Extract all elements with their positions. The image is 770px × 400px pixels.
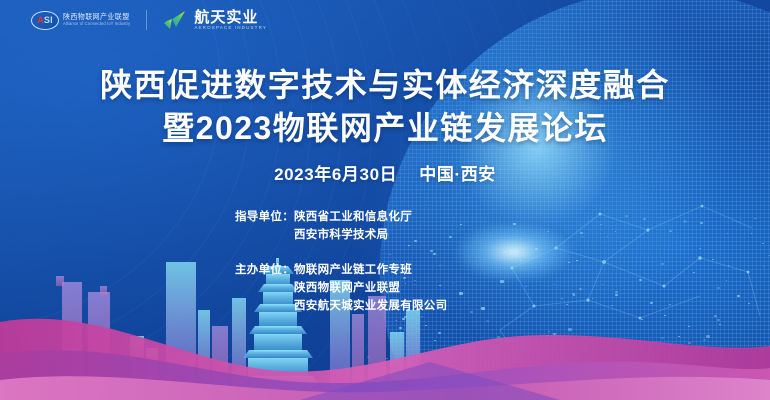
asi-letter-si: SI bbox=[44, 16, 53, 25]
aerospace-swoosh-icon bbox=[163, 10, 187, 30]
organizer-label: 指导单位： bbox=[235, 208, 294, 244]
date-location-bar: 2023年6月30日中国·西安 bbox=[0, 160, 770, 185]
logo-divider bbox=[146, 10, 147, 30]
alliance-name-en: Alliance of Connected IoT Industry bbox=[63, 22, 130, 26]
organizer-unit: 陕西省工业和信息化厅 bbox=[294, 208, 412, 226]
organizers-block: 指导单位：陕西省工业和信息化厅西安市科学技术局主办单位：物联网产业链工作专班陕西… bbox=[0, 208, 770, 332]
alliance-logo: ASI 陕西物联网产业联盟 Alliance of Connected IoT … bbox=[31, 11, 130, 30]
conference-poster: ASI 陕西物联网产业联盟 Alliance of Connected IoT … bbox=[0, 0, 770, 400]
title-line-1: 陕西促进数字技术与实体经济深度融合 bbox=[0, 64, 770, 107]
asi-emblem-icon: ASI bbox=[31, 11, 59, 30]
aerospace-name-en: AEROSPACE INDUSTRY bbox=[194, 26, 267, 31]
alliance-logo-text: 陕西物联网产业联盟 Alliance of Connected IoT Indu… bbox=[63, 14, 130, 26]
asi-letter-a: A bbox=[37, 16, 44, 25]
logo-bar: ASI 陕西物联网产业联盟 Alliance of Connected IoT … bbox=[31, 10, 267, 31]
organizer-unit: 西安航天城实业发展有限公司 bbox=[294, 297, 447, 315]
organizer-unit: 物联网产业链工作专班 bbox=[294, 261, 447, 279]
aerospace-logo-text: 航天实业 AEROSPACE INDUSTRY bbox=[194, 10, 267, 31]
aerospace-logo: 航天实业 AEROSPACE INDUSTRY bbox=[163, 10, 267, 31]
event-location: 中国·西安 bbox=[419, 165, 496, 184]
organizer-group: 指导单位：陕西省工业和信息化厅西安市科学技术局 bbox=[235, 208, 535, 244]
organizer-unit: 陕西物联网产业联盟 bbox=[294, 279, 447, 297]
organizers-inner: 指导单位：陕西省工业和信息化厅西安市科学技术局主办单位：物联网产业链工作专班陕西… bbox=[235, 208, 535, 332]
event-date: 2023年6月30日 bbox=[274, 165, 397, 184]
organizer-unit-list: 陕西省工业和信息化厅西安市科学技术局 bbox=[294, 208, 412, 244]
organizer-unit: 西安市科学技术局 bbox=[294, 226, 412, 244]
alliance-name-cn: 陕西物联网产业联盟 bbox=[63, 14, 130, 21]
poster-title: 陕西促进数字技术与实体经济深度融合 暨2023物联网产业链发展论坛 bbox=[0, 64, 770, 149]
organizer-unit-list: 物联网产业链工作专班陕西物联网产业联盟西安航天城实业发展有限公司 bbox=[294, 261, 447, 315]
organizer-group: 主办单位：物联网产业链工作专班陕西物联网产业联盟西安航天城实业发展有限公司 bbox=[235, 261, 535, 315]
title-line-2: 暨2023物联网产业链发展论坛 bbox=[0, 107, 770, 150]
organizer-label: 主办单位： bbox=[235, 261, 294, 315]
aerospace-name-cn: 航天实业 bbox=[194, 10, 267, 25]
